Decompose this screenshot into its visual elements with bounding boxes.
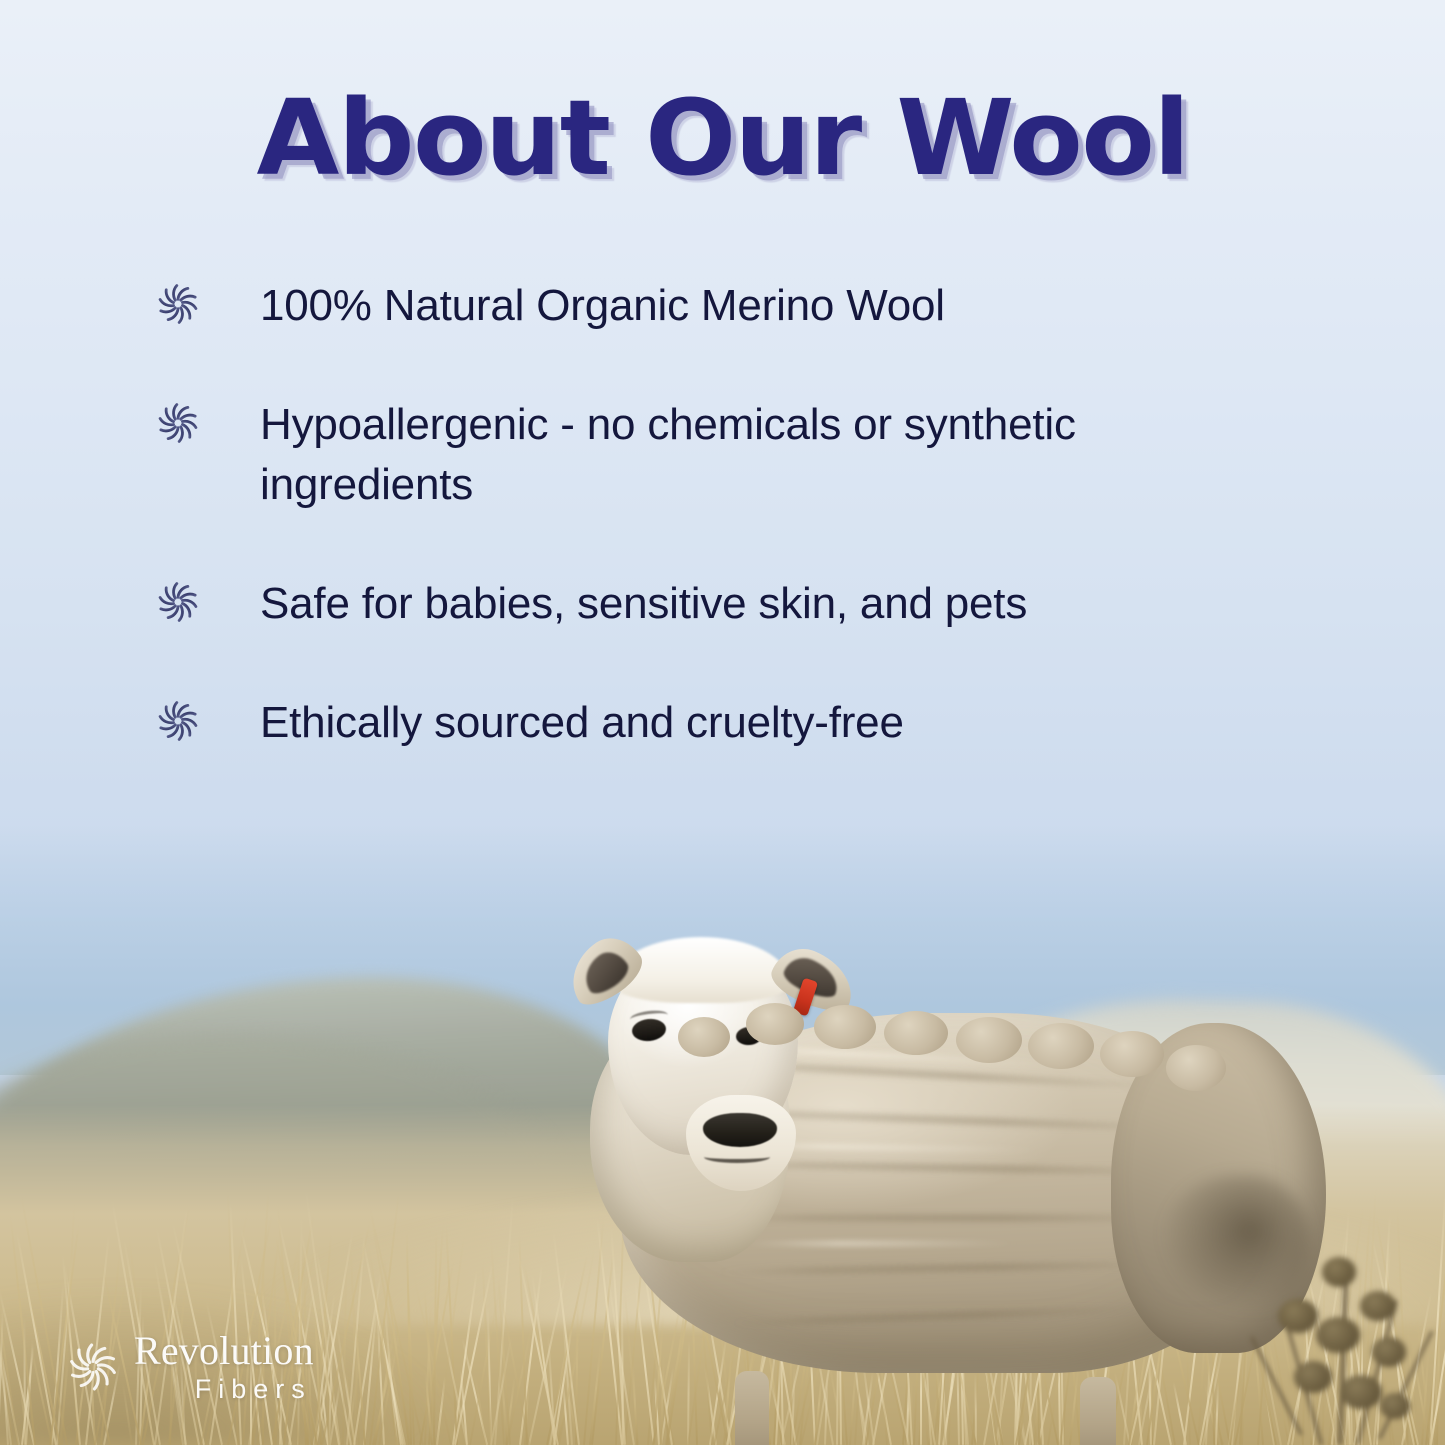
page-title: About Our Wool (0, 86, 1445, 190)
brand-subtitle: Fibers (134, 1376, 312, 1403)
list-item-label: Hypoallergenic - no chemicals or synthet… (260, 395, 1260, 516)
brand-name: Revolution (134, 1331, 314, 1371)
fiber-spiral-icon (152, 576, 204, 628)
list-item-label: Ethically sourced and cruelty-free (260, 693, 904, 754)
sheep-mouth (704, 1151, 770, 1163)
list-item: Ethically sourced and cruelty-free (152, 693, 1272, 754)
fiber-spiral-icon (152, 278, 204, 330)
brand-logo: Revolution Fibers (62, 1331, 314, 1403)
fiber-spiral-icon (152, 695, 204, 747)
list-item: 100% Natural Organic Merino Wool (152, 276, 1272, 337)
feature-list: 100% Natural Organic Merino Wool (152, 276, 1272, 754)
shrub-bush (1260, 1230, 1435, 1445)
wool-infographic-poster: About Our Wool (0, 0, 1445, 1445)
brand-wordmark: Revolution Fibers (134, 1331, 314, 1403)
sheep-leg-front (735, 1371, 769, 1445)
list-item-label: Safe for babies, sensitive skin, and pet… (260, 574, 1027, 635)
list-item-label: 100% Natural Organic Merino Wool (260, 276, 945, 337)
fiber-spiral-icon (152, 397, 204, 449)
list-item: Safe for babies, sensitive skin, and pet… (152, 574, 1272, 635)
sheep-figure (560, 905, 1320, 1445)
sheep-leg-rear (1080, 1377, 1116, 1445)
list-item: Hypoallergenic - no chemicals or synthet… (152, 395, 1272, 516)
fiber-spiral-icon (62, 1336, 124, 1398)
